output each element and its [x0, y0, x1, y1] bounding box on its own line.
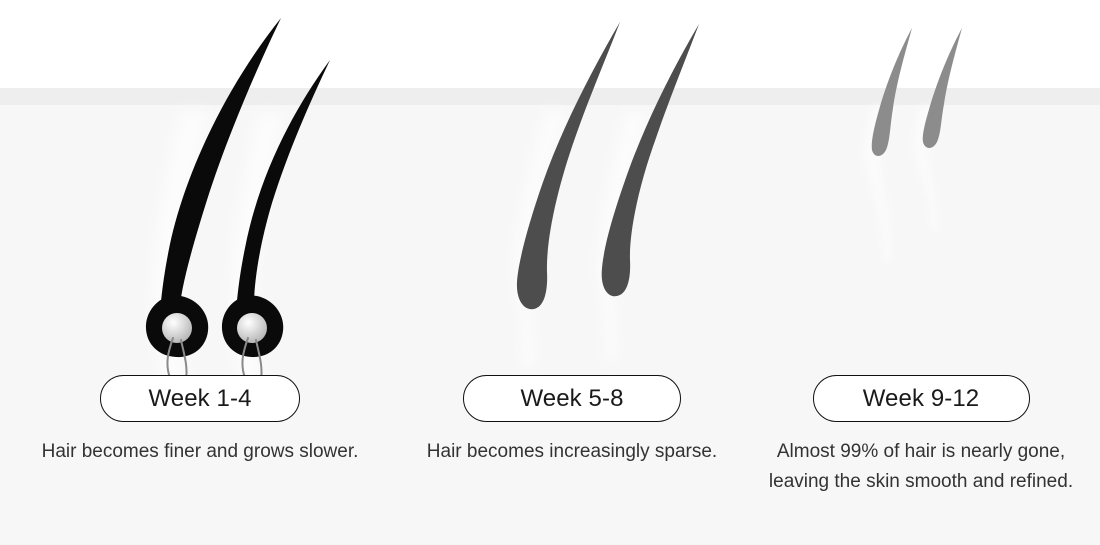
caption-line: Hair becomes finer and grows slower. — [0, 437, 400, 467]
air-background-band — [0, 0, 1100, 88]
stage-caption-week-9-12: Almost 99% of hair is nearly gone, leavi… — [742, 437, 1100, 497]
stage-pill-week-1-4[interactable]: Week 1-4 — [100, 375, 300, 422]
caption-line: Almost 99% of hair is nearly gone, — [742, 437, 1100, 467]
caption-line: Hair becomes increasingly sparse. — [392, 437, 752, 467]
hair-reduction-timeline-illustration: Week 1-4 Hair becomes finer and grows sl… — [0, 0, 1100, 545]
stage-pill-week-9-12[interactable]: Week 9-12 — [813, 375, 1030, 422]
stage-column-week-5-8: Week 5-8 Hair becomes increasingly spars… — [392, 375, 752, 467]
stage-pill-week-5-8[interactable]: Week 5-8 — [463, 375, 681, 422]
stage-pill-label: Week 9-12 — [863, 387, 980, 411]
stage-pill-label: Week 5-8 — [520, 387, 623, 411]
stage-column-week-1-4: Week 1-4 Hair becomes finer and grows sl… — [0, 375, 400, 467]
stage-pill-label: Week 1-4 — [148, 387, 251, 411]
caption-line: leaving the skin smooth and refined. — [742, 467, 1100, 497]
skin-surface-band — [0, 88, 1100, 105]
stage-caption-week-1-4: Hair becomes finer and grows slower. — [0, 437, 400, 467]
stage-column-week-9-12: Week 9-12 Almost 99% of hair is nearly g… — [742, 375, 1100, 497]
stage-caption-week-5-8: Hair becomes increasingly sparse. — [392, 437, 752, 467]
